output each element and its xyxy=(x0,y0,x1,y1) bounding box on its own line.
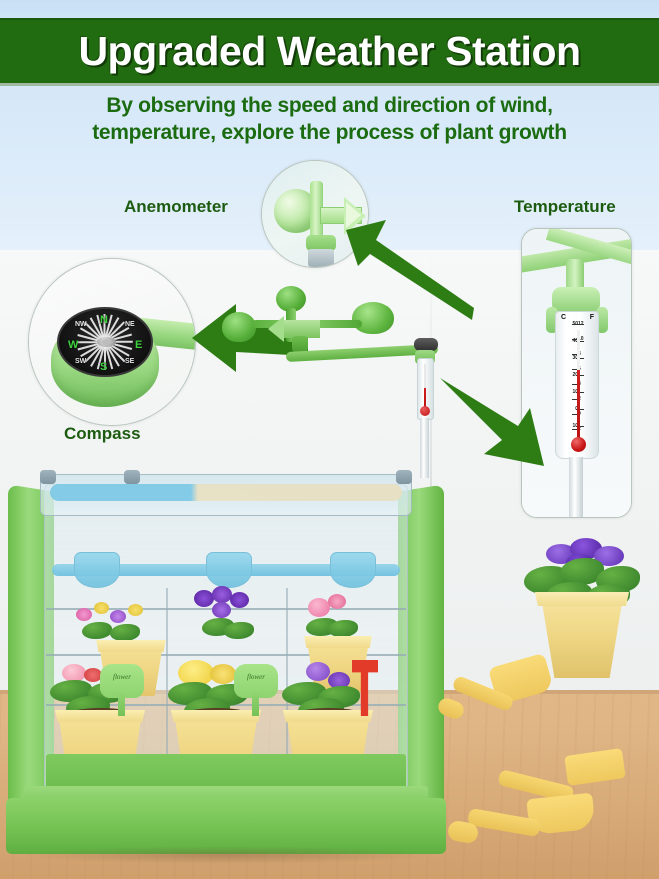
thermometer-pole xyxy=(569,457,583,517)
plant-marker-text: flower xyxy=(238,673,274,681)
roof-knob-mid xyxy=(124,470,140,484)
anemometer-cup-right xyxy=(352,302,394,334)
thermometer-tube: C F 50 40 30 20 10 0 10 20 12 10 8 6 4 2… xyxy=(555,311,599,459)
page-title: Upgraded Weather Station xyxy=(78,28,580,75)
label-temperature: Temperature xyxy=(514,197,616,217)
greenhouse-divider xyxy=(166,588,168,758)
compass-letter-west: W xyxy=(68,339,78,351)
header-band: Upgraded Weather Station xyxy=(0,18,659,86)
greenhouse-product: flower flower xyxy=(6,468,446,864)
subtitle: By observing the speed and direction of … xyxy=(20,92,639,146)
temperature-zoom-panel: C F 50 40 30 20 10 0 10 20 12 10 8 6 4 2… xyxy=(521,228,632,518)
compass-letter-east: E xyxy=(135,339,142,351)
mast-thermometer-bulb xyxy=(420,406,430,416)
compass-letter-southwest: SW xyxy=(75,358,86,365)
anemometer-base xyxy=(308,249,334,267)
thermometer-unit-celsius: C xyxy=(561,314,566,321)
flower-pot-rim xyxy=(52,710,148,722)
greenhouse-divider xyxy=(286,588,288,758)
drip-funnel xyxy=(74,552,120,588)
drip-funnel xyxy=(330,552,376,588)
thermometer-celsius-scale: 50 40 30 20 10 0 10 20 xyxy=(559,322,579,456)
compass-letter-north: N xyxy=(100,314,108,326)
drip-funnel xyxy=(206,552,252,588)
subtitle-line-2: temperature, explore the process of plan… xyxy=(20,119,639,146)
label-anemometer: Anemometer xyxy=(124,197,228,217)
temperature-clamp xyxy=(552,287,600,313)
label-compass: Compass xyxy=(64,424,141,444)
plant-marker: flower xyxy=(100,664,144,698)
greenhouse-shadow xyxy=(20,846,432,864)
external-flower-pot-rim xyxy=(533,592,631,606)
compass-letter-south: S xyxy=(100,361,107,373)
roof-knob-left xyxy=(40,470,56,484)
thermometer-bulb xyxy=(571,437,586,452)
arrow-to-temperature-icon xyxy=(440,378,552,470)
flower-pot-rim xyxy=(168,710,264,722)
compass-zoom-circle: N E S W NE SE SW NW xyxy=(28,258,196,426)
greenhouse-drip-row xyxy=(52,548,400,590)
anemometer-cup-left xyxy=(222,312,256,342)
compass-dial: N E S W NE SE SW NW xyxy=(57,307,153,377)
roof-knob-right xyxy=(396,470,412,484)
mast-thermometer-column xyxy=(424,364,426,410)
wind-vane-arrow-icon xyxy=(268,316,284,342)
subtitle-line-1: By observing the speed and direction of … xyxy=(20,92,639,119)
thermometer-mercury-column xyxy=(577,330,580,448)
vane-hub xyxy=(292,336,308,352)
product-marketing-image: Upgraded Weather Station By observing th… xyxy=(0,0,659,879)
greenhouse-water-tube xyxy=(50,484,402,501)
compass-letter-northeast: NE xyxy=(125,321,135,328)
sky-top-strip xyxy=(0,0,659,18)
thermometer-unit-fahrenheit: F xyxy=(590,314,594,321)
compass-letter-northwest: NW xyxy=(75,321,87,328)
plant-marker: flower xyxy=(234,664,278,698)
compass-pivot xyxy=(102,339,111,345)
plant-marker-text: flower xyxy=(104,673,140,681)
compass-letter-southeast: SE xyxy=(125,358,134,365)
thermometer-fahrenheit-scale: 12 10 8 6 4 2 0 2 4 xyxy=(577,322,595,456)
